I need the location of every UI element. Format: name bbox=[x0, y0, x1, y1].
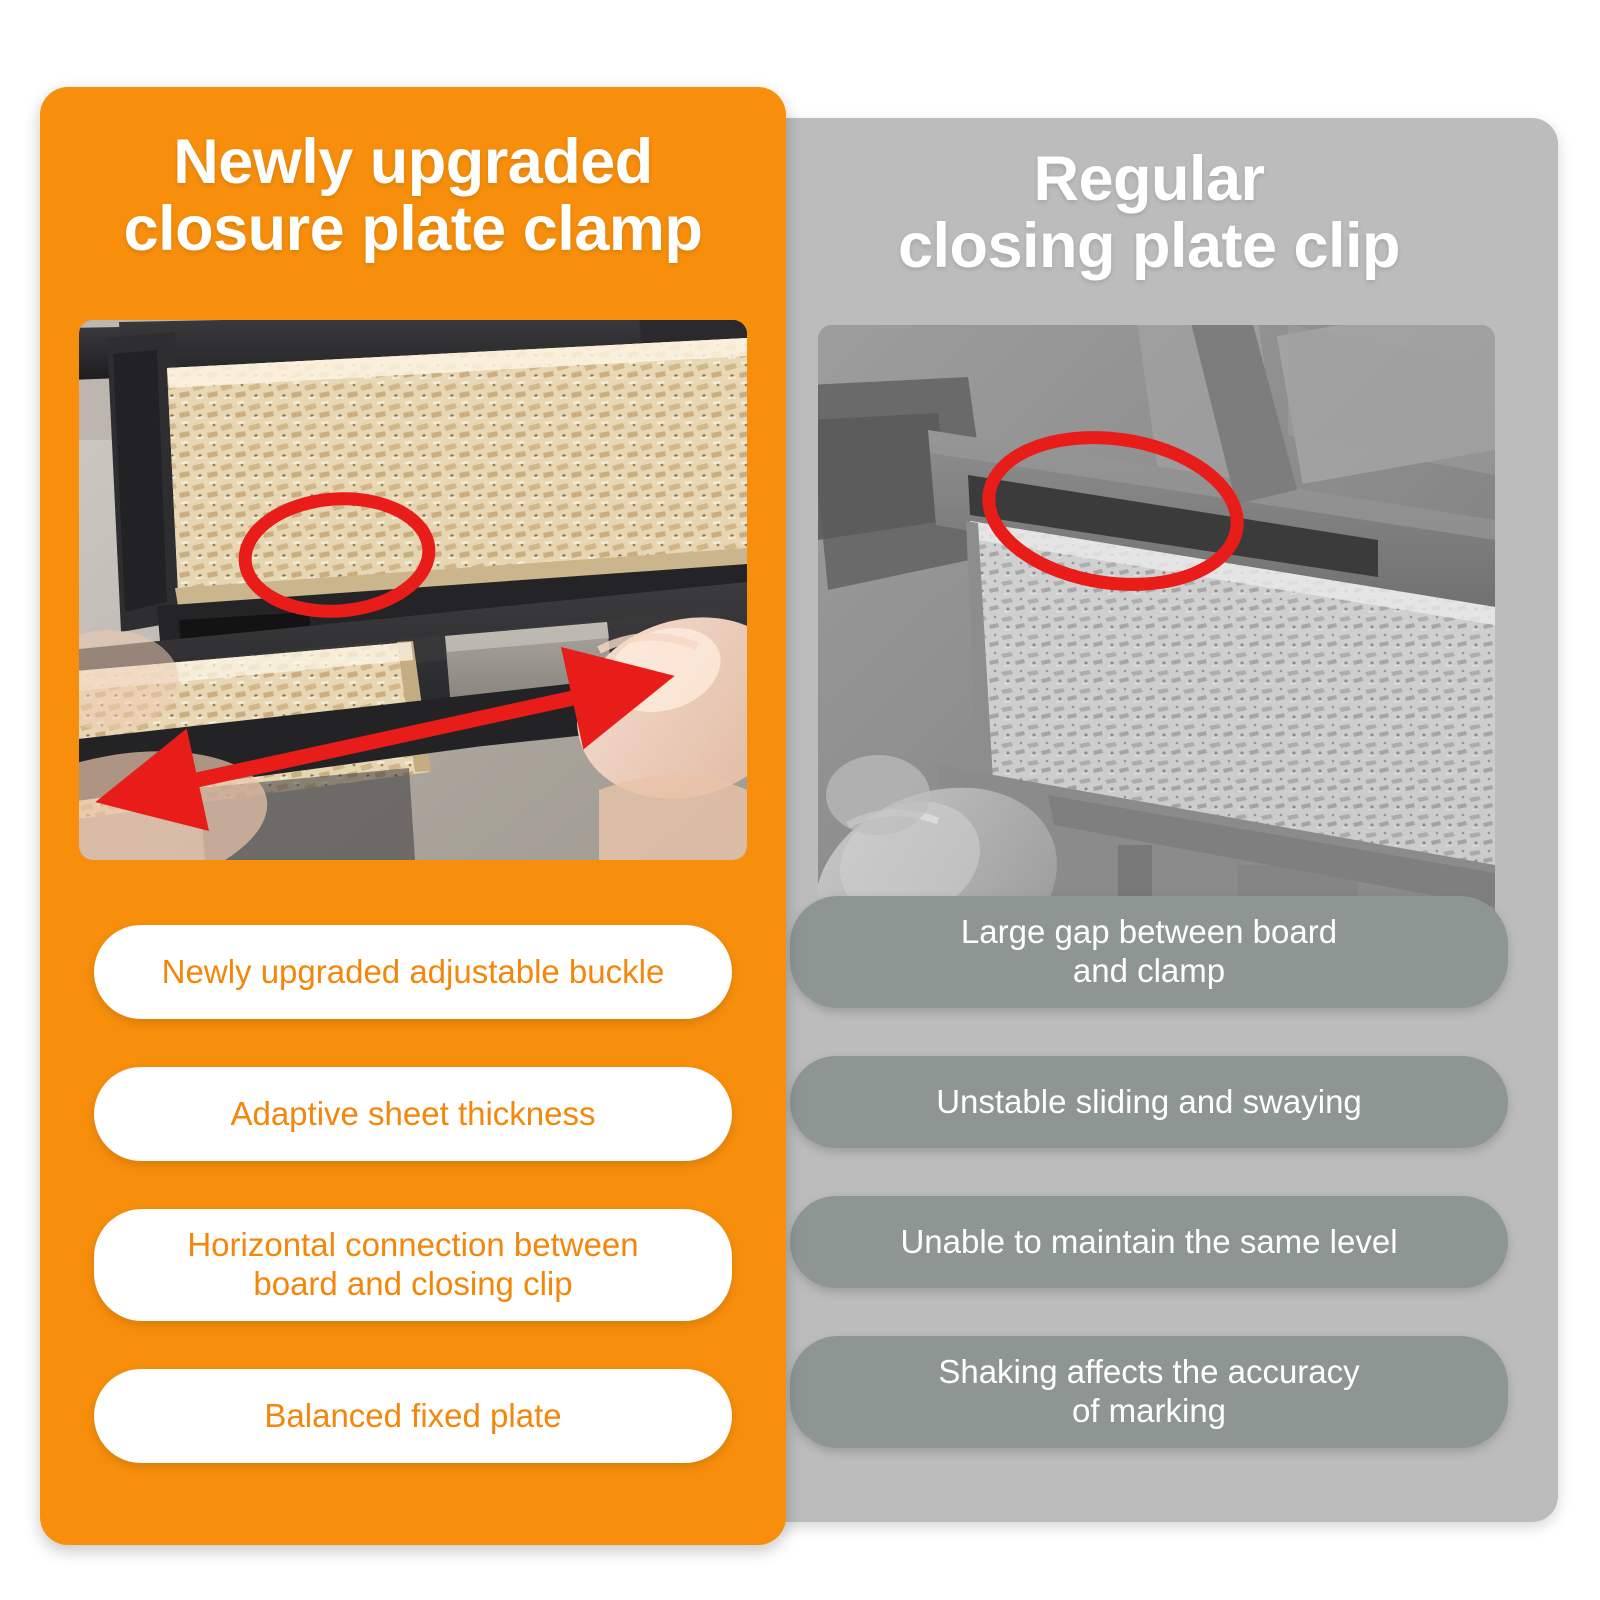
drawback-pill: Unstable sliding and swaying bbox=[790, 1056, 1508, 1148]
feature-pill: Adaptive sheet thickness bbox=[94, 1067, 732, 1161]
feature-pill: Newly upgraded adjustable buckle bbox=[94, 925, 732, 1019]
regular-clip-photo bbox=[818, 325, 1495, 977]
comparison-infographic: Regular closing plate clip bbox=[0, 0, 1600, 1600]
feature-pill: Balanced fixed plate bbox=[94, 1369, 732, 1463]
regular-drawback-list: Large gap between board and clamp Unstab… bbox=[740, 896, 1558, 1496]
regular-panel-title: Regular closing plate clip bbox=[740, 146, 1558, 281]
panel-regular-clip: Regular closing plate clip bbox=[740, 118, 1558, 1522]
drawback-pill: Unable to maintain the same level bbox=[790, 1196, 1508, 1288]
panel-upgraded-clamp: Newly upgraded closure plate clamp bbox=[40, 87, 786, 1545]
upgraded-feature-list: Newly upgraded adjustable buckle Adaptiv… bbox=[40, 925, 786, 1511]
drawback-pill: Large gap between board and clamp bbox=[790, 896, 1508, 1008]
drawback-pill: Shaking affects the accuracy of marking bbox=[790, 1336, 1508, 1448]
feature-pill: Horizontal connection between board and … bbox=[94, 1209, 732, 1321]
upgraded-clamp-photo bbox=[79, 320, 747, 860]
upgraded-panel-title: Newly upgraded closure plate clamp bbox=[40, 129, 786, 264]
